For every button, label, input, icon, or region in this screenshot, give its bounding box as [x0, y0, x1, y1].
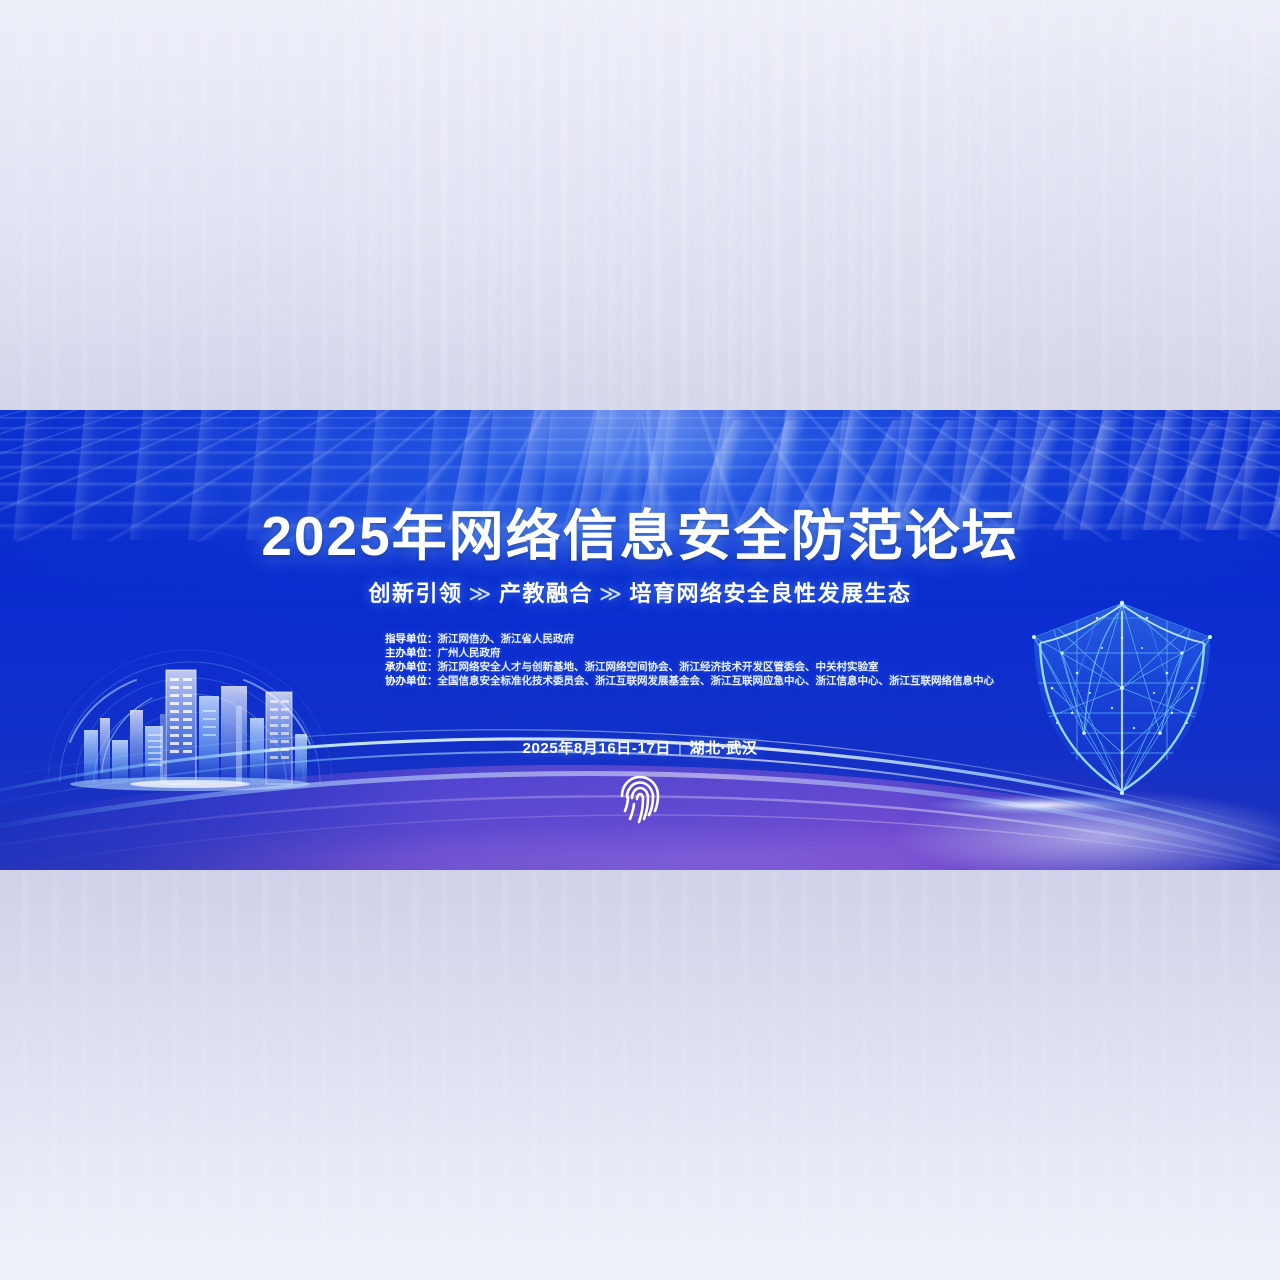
organization-row: 主办单位：广州人民政府 [385, 646, 1025, 660]
banner-subtitle: 创新引领≫产教融合≫培育网络安全良性发展生态 [0, 583, 1280, 605]
organization-row: 承办单位：浙江网络安全人才与创新基地、浙江网络空间协会、浙江经济技术开发区管委会… [385, 660, 1025, 674]
organization-value: 浙江网信办、浙江省人民政府 [438, 633, 575, 645]
organization-label: 承办单位： [385, 661, 438, 673]
subtitle-part-3: 培育网络安全良性发展生态 [630, 581, 912, 606]
event-location: 湖北·武汉 [689, 740, 757, 757]
chevron-separator-icon-1: ≫ [462, 581, 499, 606]
banner-content: 2025年网络信息安全防范论坛 创新引领≫产教融合≫培育网络安全良性发展生态 指… [0, 410, 1280, 870]
organization-label: 协办单位： [385, 675, 438, 687]
event-banner: 2025年网络信息安全防范论坛 创新引领≫产教融合≫培育网络安全良性发展生态 指… [0, 410, 1280, 870]
organization-row: 协办单位：全国信息安全标准化技术委员会、浙江互联网发展基金会、浙江互联网应急中心… [385, 674, 1025, 688]
subtitle-part-2: 产教融合 [499, 581, 593, 606]
page-background-vertical-stripes [330, 0, 970, 420]
event-date-location: 2025年8月16日-17日|湖北·武汉 [0, 737, 1280, 758]
organization-label: 指导单位： [385, 633, 438, 645]
fingerprint-icon [618, 774, 662, 828]
page-title: 2025年网络信息安全防范论坛 [0, 509, 1280, 564]
event-date: 2025年8月16日-17日 [523, 740, 671, 757]
chevron-separator-icon-2: ≫ [593, 581, 630, 606]
organization-row: 指导单位：浙江网信办、浙江省人民政府 [385, 632, 1025, 646]
subtitle-part-1: 创新引领 [368, 581, 462, 606]
organizations-list: 指导单位：浙江网信办、浙江省人民政府 主办单位：广州人民政府 承办单位：浙江网络… [385, 632, 1025, 688]
organization-label: 主办单位： [385, 647, 438, 659]
organization-value: 广州人民政府 [438, 647, 501, 659]
organization-value: 全国信息安全标准化技术委员会、浙江互联网发展基金会、浙江互联网应急中心、浙江信息… [438, 675, 995, 687]
organization-value: 浙江网络安全人才与创新基地、浙江网络空间协会、浙江经济技术开发区管委会、中关村实… [438, 661, 879, 673]
divider: | [671, 740, 690, 757]
